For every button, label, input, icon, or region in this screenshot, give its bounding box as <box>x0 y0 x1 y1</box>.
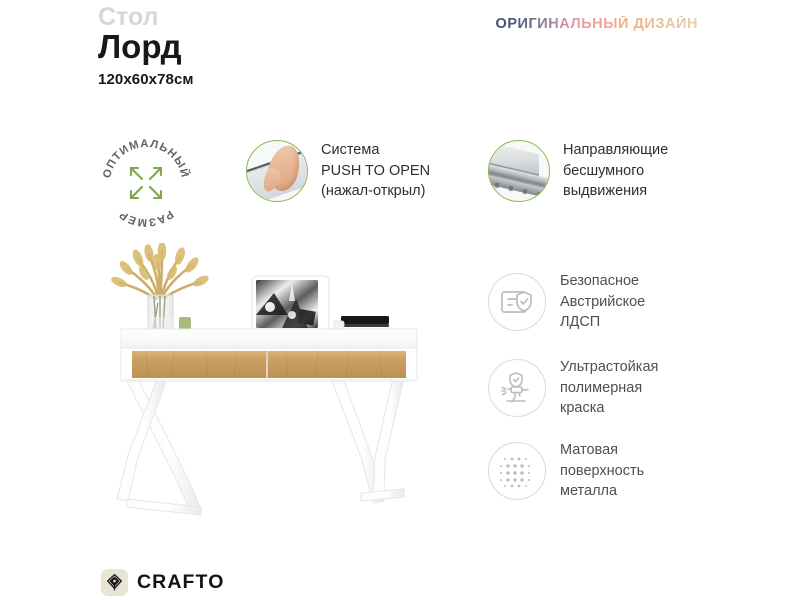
board-shield-icon <box>488 273 546 331</box>
feature-line-3: (нажал-открыл) <box>321 181 430 202</box>
drawer-front-right <box>268 351 406 378</box>
product-category: Стол <box>98 4 194 30</box>
feature-line-2: полимерная <box>560 378 658 399</box>
svg-text:ОПТИМАЛЬНЫЙ: ОПТИМАЛЬНЫЙ <box>101 138 192 180</box>
badge-text-top: ОПТИМАЛЬНЫЙ <box>101 138 192 180</box>
feature-line-2: поверхность <box>560 461 644 482</box>
badge-text-bottom: РАЗМЕР <box>117 208 176 229</box>
laptop-with-bw-photo <box>252 276 329 333</box>
glass-vase <box>148 295 173 334</box>
feature-line-1: Матовая <box>560 440 644 461</box>
feature-line-3: ЛДСП <box>560 312 645 333</box>
desk-leg-left <box>117 381 201 515</box>
design-tagline: ОРИГИНАЛЬНЫЙ ДИЗАЙН <box>496 16 699 32</box>
feature-polymer-paint: Ультрастойкая полимерная краска <box>488 357 658 419</box>
product-infographic: Стол Лорд 120x60x78см ОРИГИНАЛЬНЫЙ ДИЗАЙ… <box>0 0 800 600</box>
black-book <box>334 316 389 329</box>
svg-text:РАЗМЕР: РАЗМЕР <box>117 208 176 229</box>
brand-name: CRAFTO <box>137 571 225 594</box>
optimal-size-badge: ОПТИМАЛЬНЫЙ РАЗМЕР <box>97 134 195 232</box>
feature-matte-metal-label: Матовая поверхность металла <box>560 440 644 502</box>
brand-logo: CRAFTO <box>101 569 225 596</box>
diamond-emblem-icon <box>101 569 128 596</box>
spray-gun-shield-icon <box>488 359 546 417</box>
product-photo <box>96 243 438 521</box>
vase-with-dried-pampas <box>110 243 211 299</box>
desk-leg-right <box>332 381 404 503</box>
feature-push-to-open-label: Система PUSH TO OPEN (нажал-открыл) <box>321 140 430 202</box>
feature-line-2: бесшумного <box>563 161 668 182</box>
feature-polymer-paint-label: Ультрастойкая полимерная краска <box>560 357 658 419</box>
desk-top <box>121 329 417 348</box>
feature-push-to-open: Система PUSH TO OPEN (нажал-открыл) <box>246 140 430 202</box>
product-title-block: Стол Лорд 120x60x78см <box>98 4 194 88</box>
four-direction-arrows-icon <box>131 168 161 198</box>
feature-line-1: Безопасное <box>560 271 645 292</box>
feature-line-1: Направляющие <box>563 140 668 161</box>
product-dimensions: 120x60x78см <box>98 71 194 88</box>
feature-line-3: краска <box>560 398 658 419</box>
feature-line-2: PUSH TO OPEN <box>321 161 430 182</box>
drawer-front-left <box>132 351 266 378</box>
hand-push-icon <box>246 140 308 202</box>
drawer-rail-icon <box>488 140 550 202</box>
page-title: Лорд <box>98 29 194 65</box>
feature-silent-rails: Направляющие бесшумного выдвижения <box>488 140 668 202</box>
feature-matte-metal: Матовая поверхность металла <box>488 440 644 502</box>
feature-line-3: выдвижения <box>563 181 668 202</box>
feature-line-1: Система <box>321 140 430 161</box>
feature-silent-rails-label: Направляющие бесшумного выдвижения <box>563 140 668 202</box>
feature-austrian-board-label: Безопасное Австрийское ЛДСП <box>560 271 645 333</box>
matte-dot-texture-icon <box>488 442 546 500</box>
feature-line-2: Австрийское <box>560 292 645 313</box>
feature-austrian-board: Безопасное Австрийское ЛДСП <box>488 271 645 333</box>
feature-line-1: Ультрастойкая <box>560 357 658 378</box>
feature-line-3: металла <box>560 481 644 502</box>
